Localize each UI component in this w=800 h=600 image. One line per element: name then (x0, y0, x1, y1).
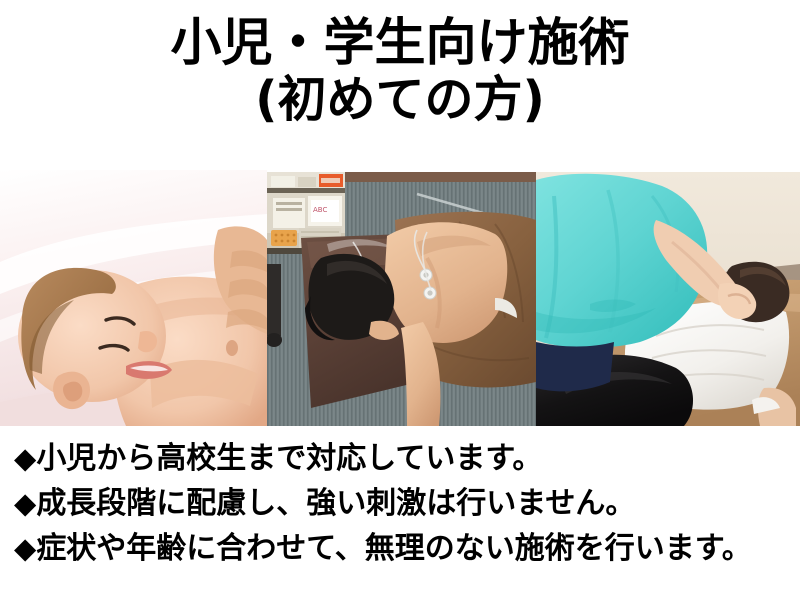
title-line-1: 小児・学生向け施術 (0, 16, 800, 72)
page-title: 小児・学生向け施術 (初めての方) (0, 0, 800, 128)
list-item: ◆小児から高校生まで対応しています。 (14, 436, 794, 481)
feature-bullet-list: ◆小児から高校生まで対応しています。 ◆成長段階に配慮し、強い刺激は行いません。… (14, 436, 794, 571)
baby-massage-photo (0, 170, 267, 426)
diamond-bullet-icon: ◆ (14, 531, 36, 565)
photo-strip: ABC (0, 170, 800, 426)
diamond-bullet-icon: ◆ (14, 486, 36, 520)
baby-massage-illustration (0, 170, 267, 426)
list-item: ◆成長段階に配慮し、強い刺激は行いません。 (14, 481, 794, 526)
student-back-treatment-illustration (536, 172, 800, 426)
title-line-2: (初めての方) (0, 72, 800, 128)
student-back-treatment-photo (536, 172, 800, 426)
child-prone-treatment-illustration: ABC (267, 172, 536, 426)
list-item: ◆症状や年齢に合わせて、無理のない施術を行います。 (14, 526, 794, 571)
bullet-text: 小児から高校生まで対応しています。 (36, 441, 542, 476)
bullet-text: 成長段階に配慮し、強い刺激は行いません。 (36, 486, 635, 521)
slide-root: 小児・学生向け施術 (初めての方) (0, 0, 800, 128)
bullet-text: 症状や年齢に合わせて、無理のない施術を行います。 (36, 531, 752, 566)
child-prone-treatment-photo: ABC (267, 172, 536, 426)
svg-text:ABC: ABC (313, 206, 327, 214)
diamond-bullet-icon: ◆ (14, 441, 36, 475)
